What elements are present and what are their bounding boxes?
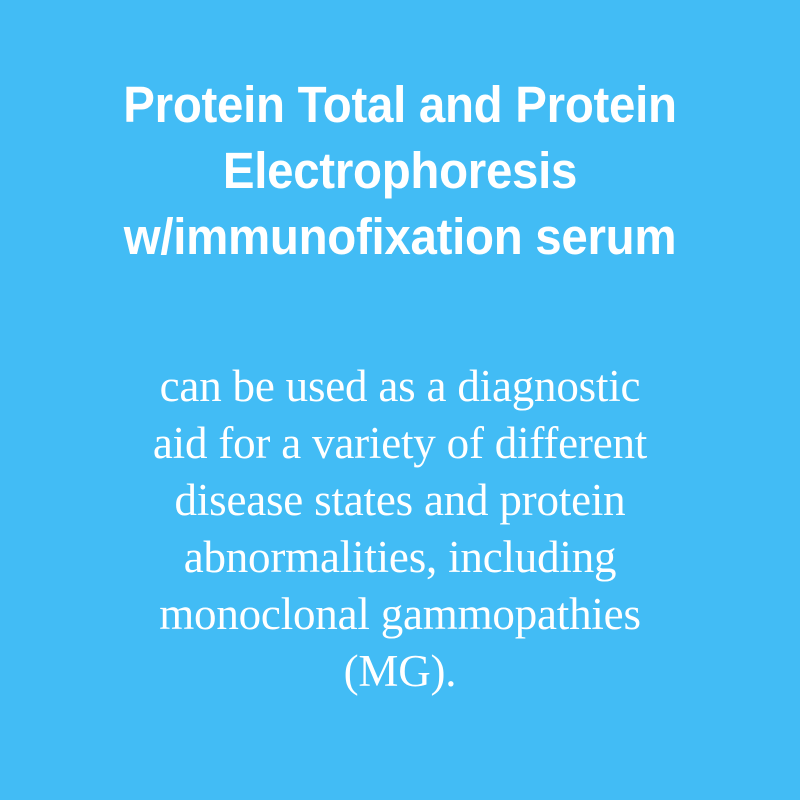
description-line-4: abnormalities, including bbox=[90, 529, 710, 586]
description-text: can be used as a diagnostic aid for a va… bbox=[90, 358, 710, 700]
title-line-3: w/immunofixation serum bbox=[75, 204, 726, 270]
description-line-1: can be used as a diagnostic bbox=[90, 358, 710, 415]
page-title: Protein Total and Protein Electrophoresi… bbox=[50, 72, 750, 270]
title-line-1: Protein Total and Protein bbox=[75, 72, 726, 138]
description-line-2: aid for a variety of different bbox=[90, 415, 710, 472]
description-line-6: (MG). bbox=[90, 643, 710, 700]
description-line-5: monoclonal gammopathies bbox=[90, 586, 710, 643]
description-line-3: disease states and protein bbox=[90, 472, 710, 529]
info-card: Protein Total and Protein Electrophoresi… bbox=[0, 0, 800, 800]
title-line-2: Electrophoresis bbox=[75, 138, 726, 204]
